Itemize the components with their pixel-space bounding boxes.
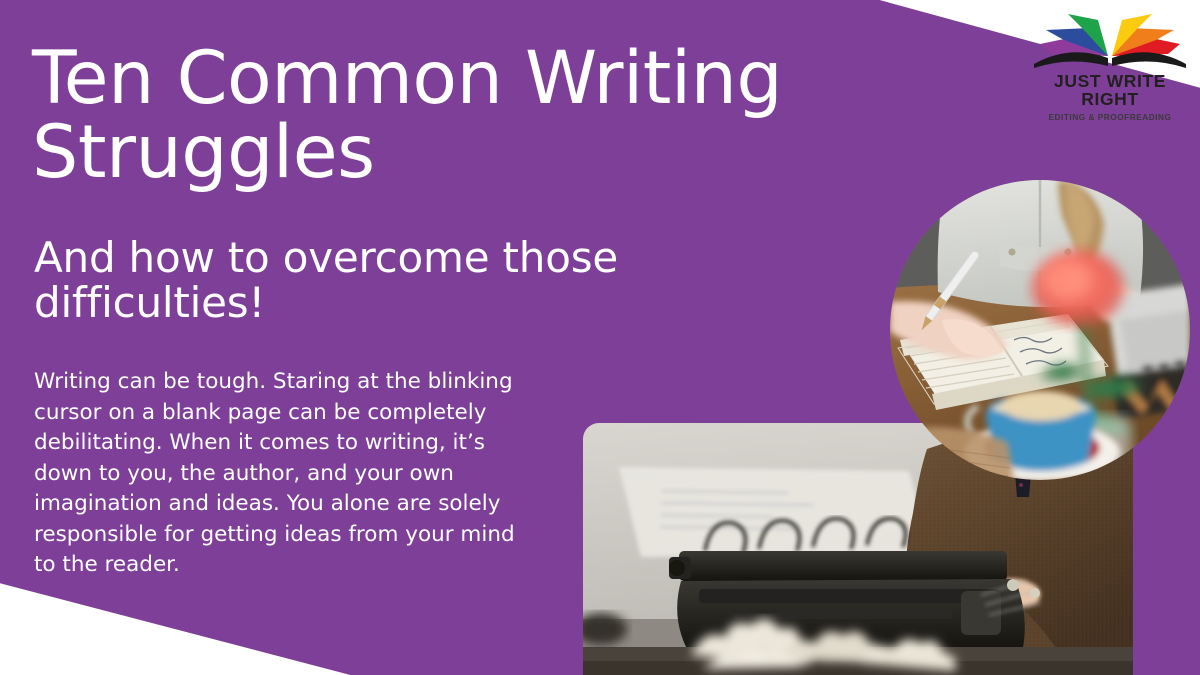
page-title: Ten Common Writing Struggles: [32, 42, 892, 191]
logo-wordmark: JUST WRITE RIGHT: [1030, 72, 1190, 109]
slide-canvas: Ten Common Writing Struggles And how to …: [0, 0, 1200, 675]
woman-writing-in-notebook-photo: [890, 180, 1190, 480]
logo-tagline: EDITING & PROOFREADING: [1030, 112, 1190, 122]
brand-logo: JUST WRITE RIGHT EDITING & PROOFREADING: [1030, 10, 1190, 110]
intro-paragraph: Writing can be tough. Staring at the bli…: [34, 367, 539, 581]
open-book-rainbow-pages-icon: [1030, 10, 1190, 70]
page-subtitle: And how to overcome those difficulties!: [34, 235, 794, 326]
